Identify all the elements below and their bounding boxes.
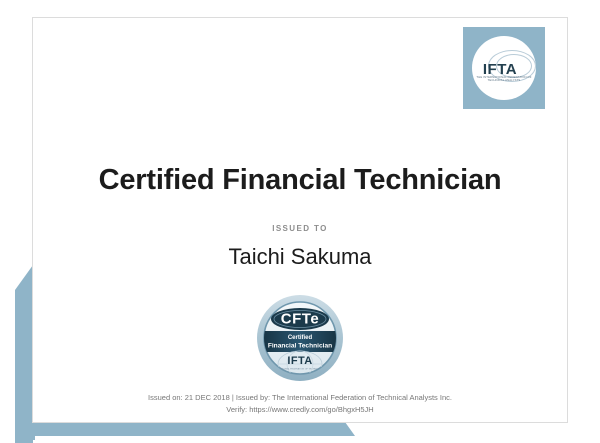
verify-line[interactable]: Verify: https://www.credly.com/go/BhgxH5… — [33, 404, 567, 416]
ifta-logo-tagline: THE INTERNATIONAL FEDERATION OF TECHNICA… — [472, 76, 536, 82]
issuer-logo-block: IFTA THE INTERNATIONAL FEDERATION OF TEC… — [463, 27, 545, 109]
seal-banner-line1: Certified — [288, 335, 313, 341]
issued-to-label: ISSUED TO — [33, 224, 567, 233]
recipient-name: Taichi Sakuma — [33, 244, 567, 270]
seal-banner-line2: Financial Technician — [268, 343, 332, 350]
certificate-footer: Issued on: 21 DEC 2018 | Issued by: The … — [33, 392, 567, 415]
seal-acronym: CFTe — [281, 311, 319, 328]
issued-on-line: Issued on: 21 DEC 2018 | Issued by: The … — [33, 392, 567, 404]
ifta-wordmark: IFTA — [483, 62, 517, 77]
cfte-seal-badge: CFTe Certified Financial Technician IFTA… — [256, 294, 344, 382]
certificate-card: IFTA THE INTERNATIONAL FEDERATION OF TEC… — [32, 17, 568, 423]
ifta-logo-icon: IFTA THE INTERNATIONAL FEDERATION OF TEC… — [472, 36, 536, 100]
seal-org: IFTA — [287, 355, 312, 367]
certificate-title: Certified Financial Technician — [33, 164, 567, 197]
